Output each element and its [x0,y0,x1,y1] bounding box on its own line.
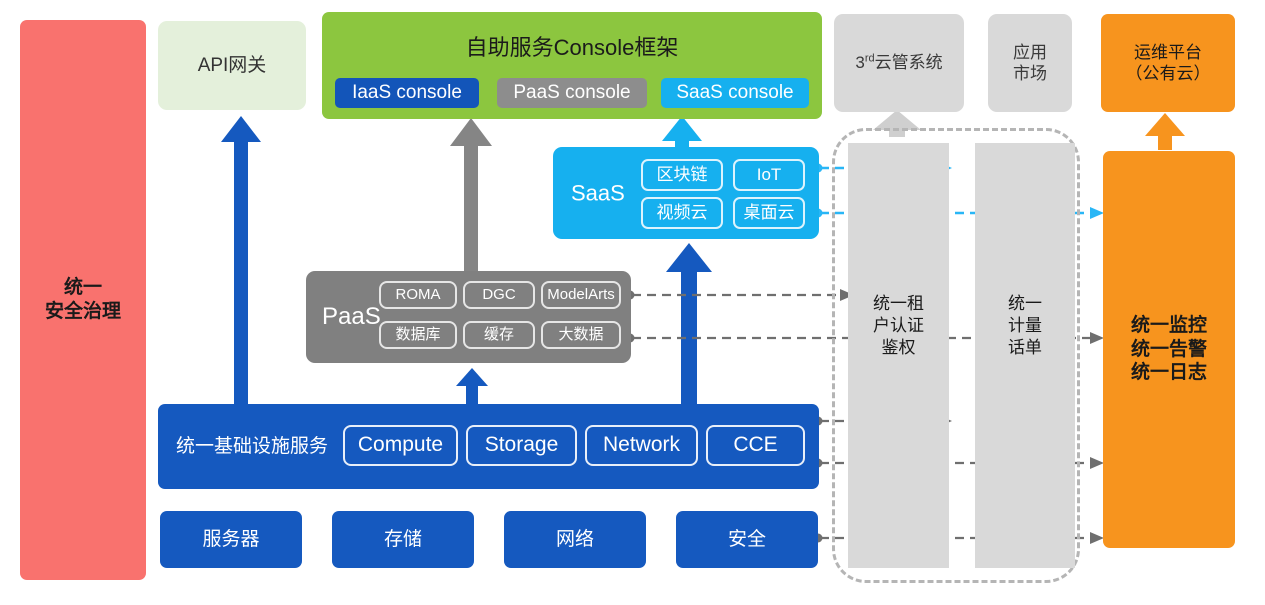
third-party-cloud-label: 3rd云管系统 [855,52,942,73]
ops-monitoring-line2: 统一告警 [1131,338,1207,362]
arrow-infra-to-paas [456,368,488,406]
paas-console-chip[interactable]: PaaS console [497,78,647,108]
infra-item-cce[interactable]: CCE [706,425,805,466]
security-governance-line1: 统一 [64,276,102,300]
arrow-infra-to-saas [666,243,712,407]
api-gateway-label: API网关 [198,54,267,78]
paas-item-dgc[interactable]: DGC [463,281,535,309]
paas-item-roma[interactable]: ROMA [379,281,457,309]
billing-column-line2: 计量 [975,315,1075,337]
saas-item-blockchain[interactable]: 区块链 [641,159,723,191]
ops-platform-top-line2: （公有云） [1126,63,1211,84]
auth-column-line1: 统一租 [848,293,949,315]
ops-monitoring-line3: 统一日志 [1131,361,1207,385]
security-governance-line2: 安全治理 [45,300,121,324]
architecture-diagram: 统一 安全治理 API网关 自助服务Console框架 IaaS console… [0,0,1265,605]
dashed-paas-to-auth [626,289,855,301]
security-governance-panel: 统一 安全治理 [20,20,146,580]
iaas-console-chip[interactable]: IaaS console [335,78,479,108]
hardware-item-security[interactable]: 安全 [676,511,818,568]
saas-console-chip[interactable]: SaaS console [661,78,809,108]
saas-item-video-cloud[interactable]: 视频云 [641,197,723,229]
auth-column-line2: 户认证 [848,315,949,337]
arrow-paas-to-console [450,118,492,275]
auth-column-line3: 鉴权 [848,337,949,359]
saas-label: SaaS [571,179,625,207]
infra-item-compute[interactable]: Compute [343,425,458,466]
console-framework-title: 自助服务Console框架 [322,34,822,62]
arrow-ops-panel-to-ops-platform [1145,113,1185,150]
ops-monitoring-panel: 统一监控 统一告警 统一日志 [1103,151,1235,548]
paas-label: PaaS [322,302,381,332]
arrow-infra-to-api-gateway [221,116,261,405]
third-party-cloud-box[interactable]: 3rd云管系统 [834,14,964,112]
ops-platform-top-box[interactable]: 运维平台 （公有云） [1101,14,1235,112]
paas-item-bigdata[interactable]: 大数据 [541,321,621,349]
paas-item-modelarts[interactable]: ModelArts [541,281,621,309]
app-market-line1: 应用 [1013,42,1047,63]
saas-item-iot[interactable]: IoT [733,159,805,191]
infra-item-network[interactable]: Network [585,425,698,466]
billing-column-line3: 话单 [975,337,1075,359]
hardware-item-network[interactable]: 网络 [504,511,646,568]
paas-item-database[interactable]: 数据库 [379,321,457,349]
saas-item-desktop-cloud[interactable]: 桌面云 [733,197,805,229]
billing-column: 统一 计量 话单 [975,143,1075,568]
hardware-item-server[interactable]: 服务器 [160,511,302,568]
infrastructure-bar: 统一基础设施服务 Compute Storage Network CCE [158,404,819,489]
auth-column: 统一租 户认证 鉴权 [848,143,949,568]
paas-box: PaaS ROMA DGC ModelArts 数据库 缓存 大数据 [306,271,631,363]
console-framework-box: 自助服务Console框架 IaaS console PaaS console … [322,12,822,119]
paas-item-cache[interactable]: 缓存 [463,321,535,349]
app-market-line2: 市场 [1013,63,1047,84]
billing-column-line1: 统一 [975,293,1075,315]
saas-box: SaaS 区块链 IoT 视频云 桌面云 [553,147,819,239]
infra-item-storage[interactable]: Storage [466,425,577,466]
hardware-item-storage[interactable]: 存储 [332,511,474,568]
ops-platform-top-line1: 运维平台 [1134,42,1202,63]
infrastructure-label: 统一基础设施服务 [176,435,328,459]
app-market-box[interactable]: 应用 市场 [988,14,1072,112]
ops-monitoring-line1: 统一监控 [1131,314,1207,338]
api-gateway-box[interactable]: API网关 [158,21,306,110]
